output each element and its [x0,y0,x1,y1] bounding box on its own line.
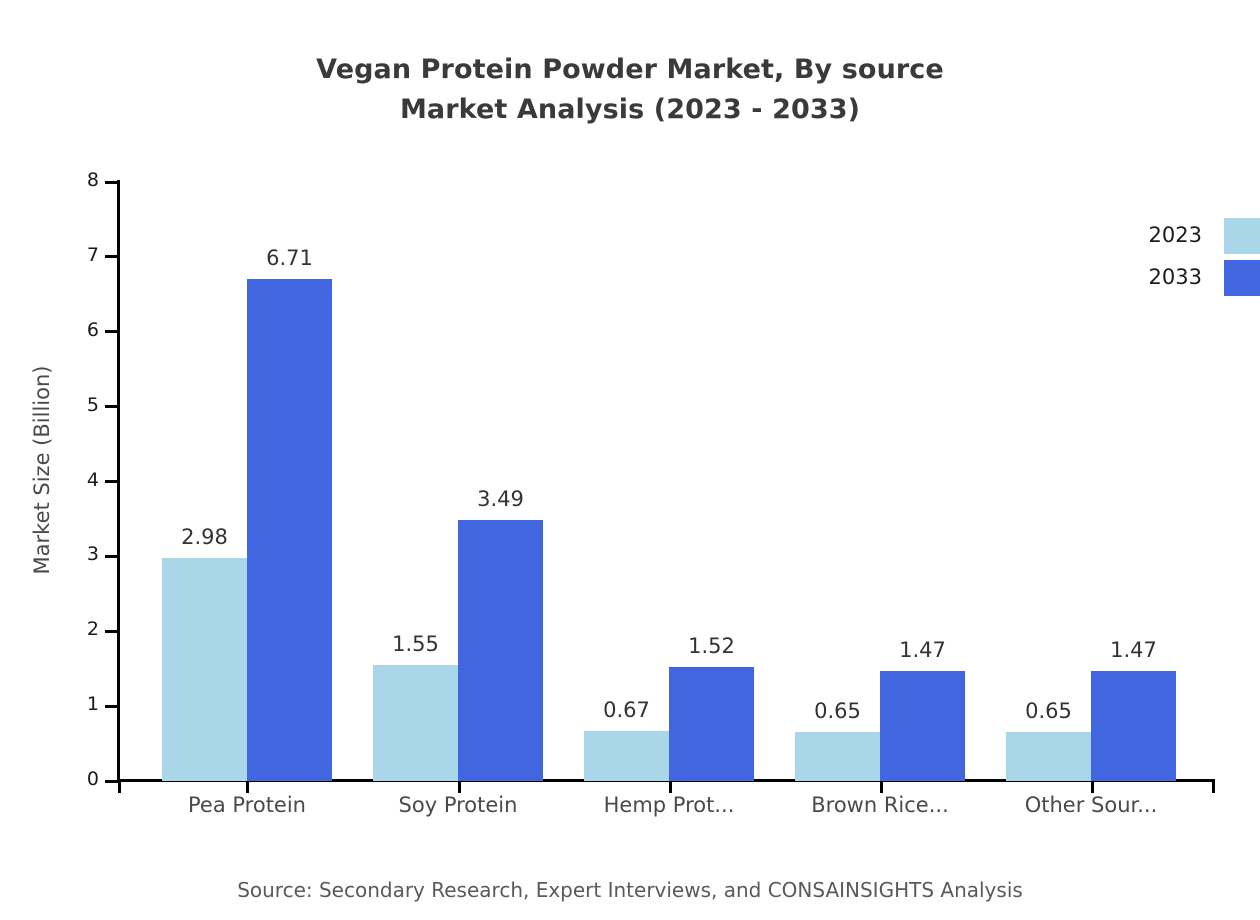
y-tick-mark [105,705,118,708]
x-category-label: Other Sour... [941,793,1241,817]
y-tick-mark [105,181,118,184]
bar-2023-2[interactable] [373,665,458,781]
bar-2033-3[interactable] [669,667,754,781]
bar-2023-3[interactable] [584,731,669,781]
chart-title-line1: Vegan Protein Powder Market, By source [316,54,944,85]
y-tick-mark [105,480,118,483]
bar-value-label: 3.49 [428,487,573,511]
y-axis-label: Market Size (Billion) [30,170,54,770]
bar-2023-4[interactable] [795,732,880,781]
x-tick-mark [118,779,121,793]
bar-value-label: 1.47 [850,638,995,662]
bar-value-label: 6.71 [217,246,362,270]
bar-value-label: 1.52 [639,634,784,658]
y-tick-label: 3 [87,543,99,565]
legend-label-2033: 2033 [1149,265,1202,289]
x-axis-endcap [1212,779,1215,793]
legend-label-2023: 2023 [1149,223,1202,247]
bar-2033-5[interactable] [1091,671,1176,781]
x-tick-mark [669,779,672,793]
y-tick-label: 6 [87,319,99,341]
x-tick-mark [1091,779,1094,793]
y-tick-label: 0 [87,768,99,790]
x-tick-mark [458,779,461,793]
legend-item-2033[interactable]: 2033 [1130,260,1260,302]
y-tick-mark [105,405,118,408]
y-tick-label: 1 [87,693,99,715]
y-tick-mark [105,330,118,333]
y-tick-label: 4 [87,469,99,491]
bar-2033-2[interactable] [458,520,543,781]
chart-title-line2: Market Analysis (2023 - 2033) [0,90,1260,130]
bar-2023-5[interactable] [1006,732,1091,781]
y-tick-mark [105,780,118,783]
bar-2023-1[interactable] [162,558,247,781]
y-tick-mark [105,555,118,558]
y-tick-mark [105,630,118,633]
y-tick-label: 8 [87,169,99,191]
y-tick-label: 7 [87,244,99,266]
bar-2033-1[interactable] [247,279,332,781]
source-note: Source: Secondary Research, Expert Inter… [0,878,1260,902]
y-tick-label: 2 [87,618,99,640]
y-tick-mark [105,255,118,258]
legend: 2023 2033 [1130,218,1260,302]
legend-swatch-2023 [1224,218,1260,254]
bar-value-label: 1.47 [1061,638,1206,662]
legend-swatch-2033 [1224,260,1260,296]
bar-2033-4[interactable] [880,671,965,781]
chart-canvas: Vegan Protein Powder Market, By source M… [0,0,1260,920]
x-tick-mark [246,779,249,793]
legend-item-2023[interactable]: 2023 [1130,218,1260,260]
x-tick-mark [880,779,883,793]
chart-title: Vegan Protein Powder Market, By source M… [0,50,1260,130]
y-tick-label: 5 [87,394,99,416]
